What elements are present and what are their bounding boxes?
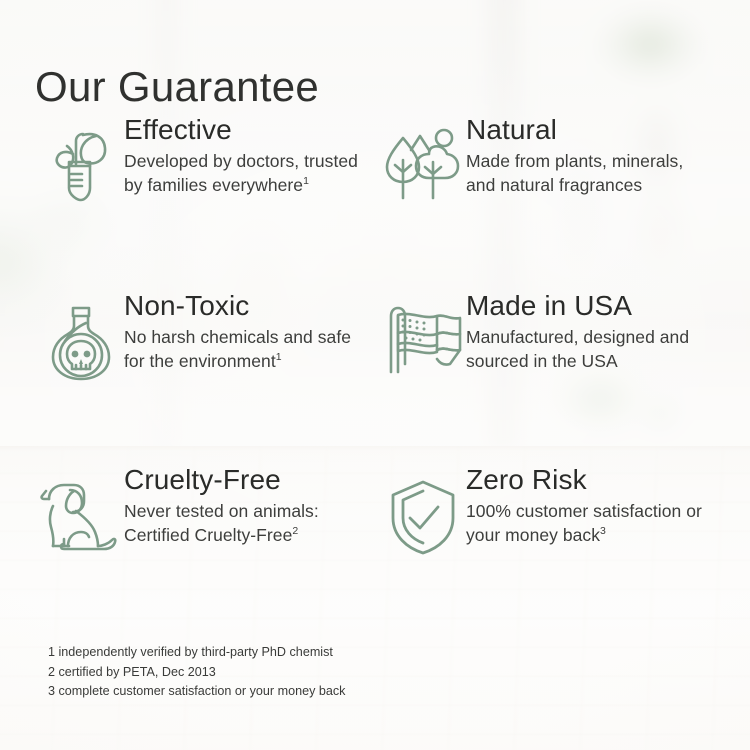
footnote-1: 1 independently verified by third-party … (48, 643, 345, 663)
feature-description-text: 100% customer satisfaction or your money… (466, 501, 702, 544)
feature-title: Zero Risk (466, 464, 750, 495)
features-row-1: Effective Developed by doctors, trusted … (0, 114, 750, 290)
feature-footnote-marker: 1 (276, 351, 282, 363)
feature-description-text: Never tested on animals: Certified Cruel… (124, 501, 319, 544)
page-title: Our Guarantee (35, 66, 319, 108)
guarantee-page: Our Guarantee (0, 0, 750, 750)
feature-title: Non-Toxic (124, 290, 370, 321)
feature-description-text: No harsh chemicals and safe for the envi… (124, 327, 351, 370)
feature-description: Made from plants, minerals, and natural … (466, 150, 712, 197)
features-row-2: Non-Toxic No harsh chemicals and safe fo… (0, 290, 750, 464)
feature-footnote-marker: 1 (303, 175, 309, 187)
shield-check-icon (380, 464, 466, 556)
feature-cell-non-toxic: Non-Toxic No harsh chemicals and safe fo… (0, 290, 370, 464)
feature-cruelty-free: Cruelty-Free Never tested on animals: Ce… (38, 464, 370, 554)
footnotes: 1 independently verified by third-party … (48, 643, 345, 702)
feature-cell-zero-risk: Zero Risk 100% customer satisfaction or … (370, 464, 750, 556)
feature-description-text: Made from plants, minerals, and natural … (466, 151, 683, 194)
poison-bottle-skull-icon (38, 290, 124, 382)
feature-text-cruelty-free: Cruelty-Free Never tested on animals: Ce… (124, 464, 370, 547)
features-grid: Effective Developed by doctors, trusted … (0, 114, 750, 556)
feature-description: Manufactured, designed and sourced in th… (466, 326, 712, 373)
feature-cell-effective: Effective Developed by doctors, trusted … (0, 114, 370, 290)
test-tube-leaf-icon (38, 114, 124, 202)
feature-made-in-usa: Made in USA Manufactured, designed and s… (380, 290, 750, 374)
feature-effective: Effective Developed by doctors, trusted … (38, 114, 370, 202)
feature-description: 100% customer satisfaction or your money… (466, 500, 712, 547)
feature-title: Effective (124, 114, 370, 145)
trees-nature-icon (380, 114, 466, 200)
feature-description: Never tested on animals: Certified Cruel… (124, 500, 370, 547)
feature-footnote-marker: 2 (292, 525, 298, 537)
sitting-dog-icon (38, 464, 124, 554)
features-row-3: Cruelty-Free Never tested on animals: Ce… (0, 464, 750, 556)
feature-natural: Natural Made from plants, minerals, and … (380, 114, 750, 200)
feature-cell-made-in-usa: Made in USA Manufactured, designed and s… (370, 290, 750, 464)
feature-title: Natural (466, 114, 750, 145)
feature-zero-risk: Zero Risk 100% customer satisfaction or … (380, 464, 750, 556)
feature-text-made-in-usa: Made in USA Manufactured, designed and s… (466, 290, 750, 373)
feature-cell-natural: Natural Made from plants, minerals, and … (370, 114, 750, 290)
feature-title: Made in USA (466, 290, 750, 321)
feature-text-non-toxic: Non-Toxic No harsh chemicals and safe fo… (124, 290, 370, 373)
content-layer: Our Guarantee (0, 0, 750, 750)
feature-description-text: Manufactured, designed and sourced in th… (466, 327, 689, 370)
feature-text-natural: Natural Made from plants, minerals, and … (466, 114, 750, 197)
feature-cell-cruelty-free: Cruelty-Free Never tested on animals: Ce… (0, 464, 370, 556)
feature-text-effective: Effective Developed by doctors, trusted … (124, 114, 370, 197)
feature-description: Developed by doctors, trusted by familie… (124, 150, 370, 197)
feature-non-toxic: Non-Toxic No harsh chemicals and safe fo… (38, 290, 370, 382)
footnote-3: 3 complete customer satisfaction or your… (48, 682, 345, 702)
feature-description: No harsh chemicals and safe for the envi… (124, 326, 370, 373)
feature-text-zero-risk: Zero Risk 100% customer satisfaction or … (466, 464, 750, 547)
feature-footnote-marker: 3 (600, 525, 606, 537)
usa-flag-icon (380, 290, 466, 374)
footnote-2: 2 certified by PETA, Dec 2013 (48, 663, 345, 683)
feature-description-text: Developed by doctors, trusted by familie… (124, 151, 358, 194)
feature-title: Cruelty-Free (124, 464, 370, 495)
